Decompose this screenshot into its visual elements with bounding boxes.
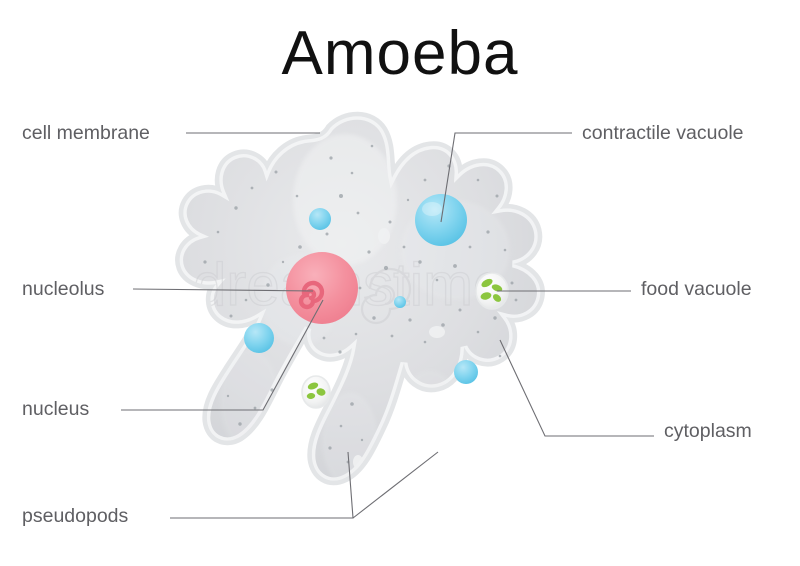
contractile-vacuole-lower-right[interactable]: [454, 360, 478, 384]
label-nucleolus: nucleolus: [22, 278, 104, 301]
label-food-vacuole: food vacuole: [641, 278, 752, 301]
contractile-vacuole-left[interactable]: [244, 323, 274, 353]
label-cytoplasm: cytoplasm: [664, 420, 752, 443]
contractile-vacuole-upper-left[interactable]: [309, 208, 331, 230]
food-vacuole-lower-left[interactable]: [302, 376, 330, 408]
diagram-canvas: dreamstime: [0, 0, 800, 566]
label-cell-membrane: cell membrane: [22, 122, 150, 145]
page-title: Amoeba: [0, 18, 800, 89]
contractile-vacuole-small-center[interactable]: [394, 296, 406, 308]
label-contractile-vacuole: contractile vacuole: [582, 122, 744, 145]
nucleus[interactable]: [286, 252, 358, 324]
leader-cytoplasm: [500, 340, 654, 436]
label-pseudopods: pseudopods: [22, 505, 128, 528]
label-nucleus: nucleus: [22, 398, 89, 421]
